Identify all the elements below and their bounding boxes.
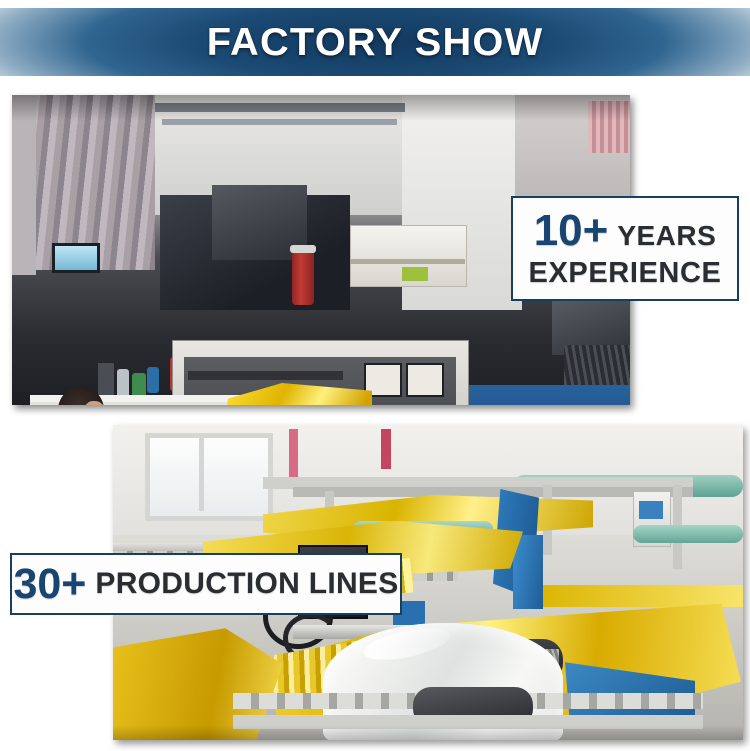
- lines-label: PRODUCTION LINES: [95, 569, 398, 599]
- production-lines-badge: 30+ PRODUCTION LINES: [10, 553, 402, 615]
- window-mullion: [199, 433, 204, 511]
- years-label: YEARS: [617, 222, 716, 250]
- factory-show-page: FACTORY SHOW: [0, 0, 750, 751]
- bottle-blue: [147, 367, 159, 393]
- green-label-sticker: [402, 267, 428, 281]
- production-bottom-shadow: [113, 725, 743, 740]
- control-panel-label-strip: [188, 371, 343, 380]
- green-roller-right: [633, 525, 743, 543]
- years-number: 10+: [534, 209, 609, 253]
- gold-strip-right: [543, 585, 743, 607]
- page-header-banner: FACTORY SHOW: [0, 8, 750, 76]
- machine-lcd-screen-left: [52, 243, 100, 273]
- blue-machine-near: [467, 385, 630, 405]
- years-line-1: 10+ YEARS: [534, 209, 717, 253]
- years-experience-badge: 10+ YEARS EXPERIENCE: [511, 196, 739, 301]
- cup-lid: [290, 245, 316, 253]
- gray-curtain-edge: [12, 95, 36, 275]
- control-box-screen: [639, 501, 663, 519]
- pink-hanging-cloth-2: [381, 429, 391, 469]
- experience-label: EXPERIENCE: [529, 259, 722, 288]
- workshop-top-shadow: [12, 95, 630, 121]
- red-paper-cup: [292, 250, 314, 305]
- cable-bundle: [564, 345, 630, 385]
- lines-number: 30+: [13, 563, 86, 606]
- pink-hanging-cloth-1: [289, 429, 298, 477]
- factory-window: [145, 433, 273, 521]
- equipment-box-band: [350, 259, 465, 264]
- analog-gauge-2: [406, 363, 444, 397]
- page-title: FACTORY SHOW: [207, 23, 544, 62]
